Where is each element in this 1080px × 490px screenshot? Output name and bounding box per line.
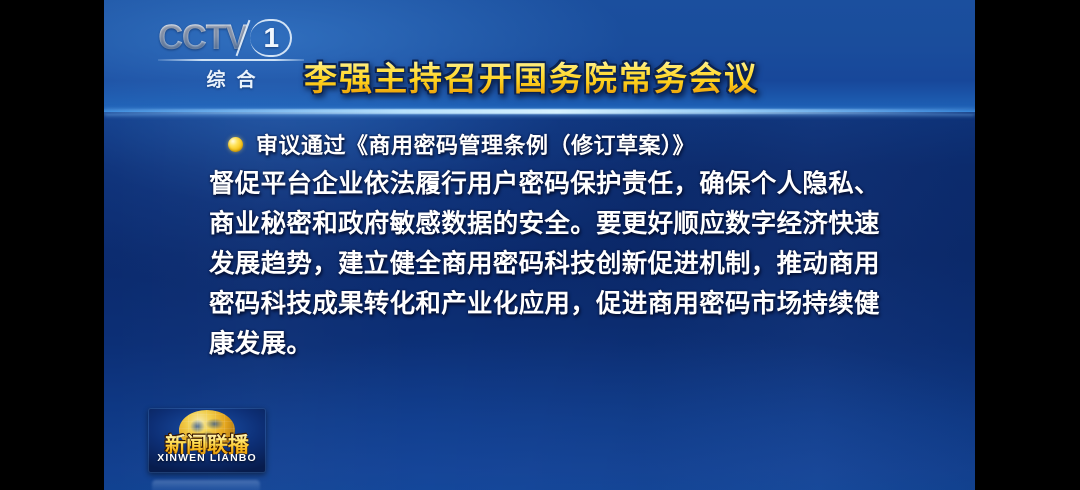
headline-title: 李强主持召开国务院常务会议 (304, 58, 759, 100)
xinwen-lianbo-program-bug: 新闻联播 XINWEN LIANBO (148, 408, 266, 473)
body-line: 康发展。 (209, 324, 889, 364)
channel-number: 1 (250, 19, 292, 57)
body-line: 密码科技成果转化和产业化应用，促进商用密码市场持续健 (209, 284, 889, 324)
broadcast-screenshot: CCTV 1 综合 李强主持召开国务院常务会议 审议通过《商用密码管理条例（修订… (0, 0, 1080, 490)
body-paragraph: 督促平台企业依法履行用户密码保护责任，确保个人隐私、商业秘密和政府敏感数据的安全… (209, 164, 889, 364)
gold-bullet-icon (228, 137, 243, 152)
program-bug-reflection (152, 480, 260, 490)
body-line: 商业秘密和政府敏感数据的安全。要更好顺应数字经济快速 (209, 204, 889, 244)
cctv-logo-row: CCTV 1 (158, 18, 308, 58)
letterbox-bar-right (975, 0, 1080, 490)
body-line: 发展趋势，建立健全商用密码科技创新促进机制，推动商用 (209, 244, 889, 284)
cctv1-channel-logo: CCTV 1 综合 (158, 18, 308, 94)
cctv-channel-sublabel: 综合 (158, 65, 304, 92)
video-frame: CCTV 1 综合 李强主持召开国务院常务会议 审议通过《商用密码管理条例（修订… (104, 0, 975, 490)
cctv-logo-underline (158, 59, 304, 61)
subheading-row: 审议通过《商用密码管理条例（修订草案）》 (228, 128, 695, 160)
body-line: 督促平台企业依法履行用户密码保护责任，确保个人隐私、 (209, 164, 889, 204)
cctv-wordmark: CCTV (158, 18, 247, 58)
letterbox-bar-left (0, 0, 104, 490)
subheading-text: 审议通过《商用密码管理条例（修订草案）》 (256, 128, 695, 160)
program-title-en: XINWEN LIANBO (148, 452, 266, 464)
channel-number-badge: 1 (250, 19, 292, 57)
content-area: 审议通过《商用密码管理条例（修订草案）》 督促平台企业依法履行用户密码保护责任，… (104, 112, 975, 490)
